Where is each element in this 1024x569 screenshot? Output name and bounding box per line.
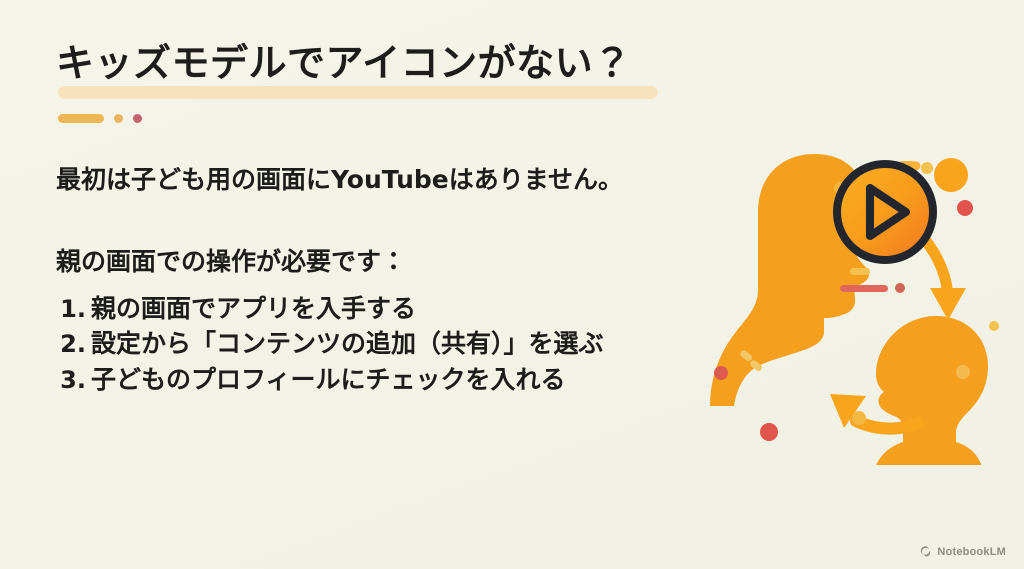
watermark-label: NotebookLM — [937, 546, 1006, 558]
watermark: NotebookLM — [919, 545, 1006, 558]
accent-dot-red-mid — [895, 283, 905, 293]
accent-dot-red-tr — [957, 200, 973, 216]
title-decoration — [58, 114, 142, 123]
decor-dot-rose — [133, 114, 142, 123]
decor-dot-amber — [114, 114, 123, 123]
title-block: キッズモデルでアイコンがない？ — [56, 42, 696, 86]
illustration — [684, 140, 1014, 465]
list-item: 3. 子どものプロフィールにチェックを入れる — [56, 362, 676, 398]
step-text: 子どものプロフィールにチェックを入れる — [91, 362, 566, 398]
accent-dot-amber-tiny-tr — [921, 162, 933, 174]
slide-canvas: キッズモデルでアイコンがない？ 最初は子ども用の画面にYouTubeはありません… — [0, 0, 1024, 569]
title-highlight-bar — [58, 86, 658, 99]
accent-dash-amber — [850, 268, 870, 275]
body-block: 最初は子ども用の画面にYouTubeはありません。 親の画面での操作が必要です：… — [56, 163, 676, 397]
steps-list: 1. 親の画面でアプリを入手する 2. 設定から「コンテンツの追加（共有）」を選… — [56, 291, 676, 398]
accent-dot-orange-large — [934, 158, 968, 192]
decor-bar — [58, 114, 104, 123]
accent-dot-amber-right — [956, 365, 970, 379]
intro-line: 最初は子ども用の画面にYouTubeはありません。 — [56, 163, 676, 197]
accent-dot-red-left — [714, 366, 728, 380]
arrow-parent-to-child-head — [930, 288, 966, 320]
accent-dot-red-bottom — [760, 423, 778, 441]
step-number: 1. — [56, 292, 91, 326]
play-circle — [837, 164, 933, 260]
accent-dash-red — [840, 285, 888, 292]
step-number: 3. — [56, 363, 91, 397]
steps-heading: 親の画面での操作が必要です： — [56, 245, 676, 279]
child-head-profile — [870, 316, 988, 465]
list-item: 1. 親の画面でアプリを入手する — [56, 291, 676, 327]
accent-dot-amber-left-mid — [852, 411, 866, 425]
notebooklm-logo-icon — [919, 545, 932, 558]
page-title: キッズモデルでアイコンがない？ — [56, 42, 696, 86]
step-number: 2. — [56, 327, 91, 361]
step-text: 設定から「コンテンツの追加（共有）」を選ぶ — [91, 326, 604, 362]
accent-dot-amber-bottom-right — [989, 321, 999, 331]
arrow-child-to-parent — [856, 421, 918, 429]
step-text: 親の画面でアプリを入手する — [91, 291, 416, 327]
list-item: 2. 設定から「コンテンツの追加（共有）」を選ぶ — [56, 326, 676, 362]
